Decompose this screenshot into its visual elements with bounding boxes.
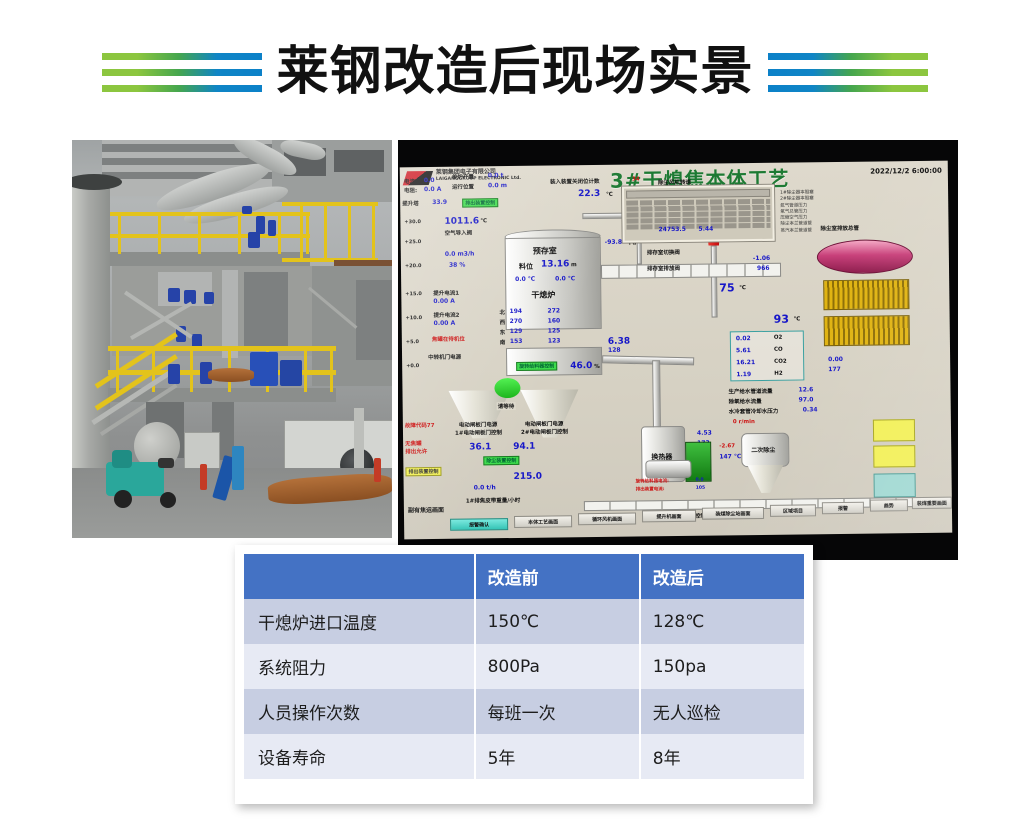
tricycle-seat [158, 458, 174, 468]
wall-panel [244, 272, 288, 348]
process-pipe [602, 355, 694, 365]
valve [168, 364, 180, 384]
secondary-dust-label: 二次除尘 [751, 445, 775, 454]
water-line-label: 生产给水管道流量 [728, 387, 772, 396]
left-misc-2-val: 0.0 t [488, 172, 504, 179]
cyclone-downpipe [711, 245, 718, 317]
row-label: 系统阻力 [244, 644, 474, 689]
tricycle-wheel [160, 492, 176, 508]
temp-row-b: 272 [547, 307, 560, 314]
lift-current-2-label: 提升电流2 [434, 311, 460, 319]
hmi-button-alarm[interactable]: 报警 [822, 502, 864, 515]
rail-post [348, 202, 351, 262]
temp-row-side: 南 [500, 338, 506, 346]
discharge-ctrl-button[interactable]: 排出装置控制 [405, 467, 441, 476]
row-after: 8年 [639, 734, 804, 779]
motor-current-value: 0.0 [696, 478, 704, 483]
scale-tick: +30.0 [404, 219, 421, 225]
branch-label-2: 排存室排放阀 [647, 264, 680, 272]
rail-post [158, 212, 161, 254]
reading-93-unit: ℃ [794, 316, 801, 322]
heat-recovery-grid [823, 279, 909, 310]
rule-line [768, 69, 928, 76]
left-misc-4: 运行位置 [452, 182, 474, 190]
poster-page: 莱钢改造后现场实景 [0, 0, 1030, 821]
water-line-value: 0.34 [803, 406, 818, 413]
discharge-flow: 0.0 t/h [474, 484, 496, 491]
chamber-temp-a: 0.0 ℃ [515, 276, 535, 283]
water-line-label: 除氧给水流量 [729, 397, 762, 405]
water-line-value: 12.6 [798, 386, 813, 393]
rail-post [278, 212, 281, 254]
rule-line [768, 85, 928, 92]
row-before: 150℃ [474, 599, 639, 644]
table-header-before: 改造前 [474, 554, 639, 599]
gas-name: CO2 [774, 359, 787, 365]
left-misc-3: 电阻: [404, 186, 417, 194]
motor-shaft [645, 460, 691, 479]
temp-966: 966 [757, 265, 770, 272]
table-row: 干熄炉进口温度 150℃ 128℃ [244, 599, 804, 644]
pressure-neg: -93.8 [605, 239, 622, 246]
air-inlet-valve-label: 空气导入阀 [445, 228, 473, 236]
photo-row: 莱钢集团电子有限公司 LAIGANGGROUP ELECTRONIC Ltd. … [0, 140, 1030, 560]
scale-tick: +15.0 [405, 291, 422, 297]
fire-extinguisher [200, 464, 207, 490]
left-misc-1: 电流: [404, 177, 417, 185]
temp-row-side: 东 [500, 328, 506, 336]
flow-neg106: -1.06 [753, 255, 770, 262]
temp-row-b: 123 [548, 337, 561, 344]
table-row: 人员操作次数 每班一次 无人巡检 [244, 689, 804, 734]
temp-215: 215.0 [513, 472, 542, 482]
company-name: 莱钢集团电子有限公司 LAIGANGGROUP ELECTRONIC Ltd. [436, 168, 521, 182]
rule-line [102, 85, 262, 92]
decorative-rules-right [768, 53, 928, 92]
row-after: 150pa [639, 644, 804, 689]
charge-count-label: 装入装置关闭位计数 [550, 177, 600, 186]
valve [268, 220, 276, 236]
charge-temp-unit: ℃ [606, 192, 613, 198]
gas-total-value: 24753.5 [658, 226, 685, 233]
hmi-button-main-process[interactable]: 本体工艺画面 [514, 515, 572, 528]
rule-line [102, 69, 262, 76]
flow-000: 0.00 [828, 356, 843, 363]
temp-row-a: 153 [510, 338, 523, 345]
hmi-button-dust-station[interactable]: 装煤除尘站画面 [702, 507, 764, 520]
rail-post [300, 202, 303, 262]
temp-128: 128 [608, 347, 621, 354]
hmi-timestamp: 2022/12/2 6:00:00 [870, 167, 942, 176]
flow-638: 6.38 [608, 337, 630, 347]
sec-dust-temp: 147 ℃ [719, 453, 741, 460]
row-before: 每班一次 [474, 689, 639, 734]
orange-pipe [208, 368, 254, 382]
plant-scene [72, 140, 392, 538]
rotary-feeder-icon [494, 378, 520, 398]
row-label: 设备寿命 [244, 734, 474, 779]
air-open-value: 38 % [449, 262, 466, 269]
rail-post [190, 346, 193, 392]
gas-name: CO [774, 347, 783, 353]
blue-drum [250, 352, 278, 386]
row-before: 800Pa [474, 644, 639, 689]
tricycle-wheel [114, 490, 132, 508]
comparison-table-card: 改造前 改造后 干熄炉进口温度 150℃ 128℃ 系统阻力 800Pa 150… [235, 545, 813, 804]
scale-tick: +20.0 [405, 263, 422, 269]
table-header-row: 改造前 改造后 [244, 554, 804, 599]
temp-row-a: 270 [510, 318, 523, 325]
row-before: 5年 [474, 734, 639, 779]
popup-toolbar[interactable] [626, 189, 770, 199]
table-header-after: 改造后 [639, 554, 804, 599]
tricycle-cab [112, 450, 132, 468]
site-photo-right-scada: 莱钢集团电子有限公司 LAIGANGGROUP ELECTRONIC Ltd. … [398, 140, 958, 560]
hmi-button-alarm-ack[interactable]: 报警确认 [450, 518, 508, 531]
table-row: 系统阻力 800Pa 150pa [244, 644, 804, 689]
hmi-button-trend[interactable]: 趋势 [870, 499, 908, 511]
gas-value: 16.21 [736, 359, 755, 366]
alarm-text-3: 无焦罐排出允许 [405, 439, 427, 455]
rail-post [330, 346, 333, 392]
air-temp-unit: ℃ [480, 218, 487, 224]
teal-panel [874, 473, 916, 498]
gas-name: O2 [774, 335, 783, 341]
fire-extinguisher [374, 458, 381, 482]
hopper-left-label2: 1#电动闸板门控制 [455, 428, 502, 437]
hmi-screen: 莱钢集团电子有限公司 LAIGANGGROUP ELECTRONIC Ltd. … [400, 161, 953, 540]
building-block [334, 150, 384, 172]
wall-panel [356, 280, 392, 360]
temp-row-b: 125 [548, 327, 561, 334]
rail-post [324, 202, 327, 262]
toolbar-title: 副有焦运画面 [408, 505, 444, 514]
temp-row-a: 129 [510, 328, 523, 335]
valve [168, 288, 180, 302]
scale-tick: +10.0 [406, 315, 423, 321]
pre-chamber-label: 预存室 [533, 245, 557, 256]
air-temp-value: 1011.6 [444, 216, 479, 226]
motor-current-label: 旋转给料器电流: [636, 478, 669, 484]
row-after: 128℃ [639, 599, 804, 644]
heat-recovery-grid [824, 315, 910, 346]
gas-total-label: 除尘室排放总管 [820, 224, 859, 232]
motor-current-label: 排出装置电流: [636, 486, 665, 492]
gas-value: 5.61 [736, 347, 751, 354]
rpm-value: 0 r/min [733, 419, 755, 425]
left-misc-4-val: 0.0 m [488, 182, 507, 189]
rail-post [304, 346, 307, 392]
valve [204, 292, 214, 304]
gas-value: 0.02 [736, 335, 751, 342]
gas-value: 1.19 [736, 371, 751, 378]
guard-rail [108, 346, 336, 351]
left-misc-1-val: 0.0 [424, 177, 435, 184]
row-after: 无人巡检 [639, 689, 804, 734]
discharge-device-tag[interactable]: 除尘装置控制 [483, 456, 519, 465]
hmi-button-circ-fan[interactable]: 循环风机画面 [578, 513, 636, 526]
temp-row-side: 西 [500, 318, 506, 326]
rail-post [306, 212, 309, 254]
furnace-label: 干熄炉 [531, 289, 555, 300]
discharge-note: 1#排焦皮带重量/小时 [466, 496, 521, 505]
rule-line [768, 53, 928, 60]
yellow-panel [873, 419, 915, 442]
charge-temp-value: 22.3 [578, 189, 600, 199]
air-flow-value: 0.0 m3/h [445, 250, 475, 257]
alarm-popup-window[interactable] [622, 185, 775, 243]
level-unit: m [571, 262, 577, 268]
concrete-column [72, 178, 110, 488]
furnace-tag[interactable]: 旋转给料器控制 [516, 361, 557, 371]
flow-544: 5.44 [698, 226, 713, 233]
rail-post [238, 212, 241, 254]
branch-label-1: 排存室切换阀 [647, 248, 680, 256]
left-misc-5-val: 33.9 [432, 199, 447, 206]
lift-current-1-label: 提升电流1 [433, 289, 459, 297]
valve [248, 232, 260, 248]
table-header-blank [244, 554, 474, 599]
temp-row-b: 160 [548, 317, 561, 324]
motor-current-value: 105 [696, 486, 705, 491]
level-label: 料位 [519, 262, 533, 272]
level-value: 13.16 [541, 259, 570, 269]
decorative-rules-left [102, 53, 262, 92]
temp-row-side: 北 [499, 308, 505, 316]
left-misc-5: 提升塔 [402, 199, 419, 207]
charge-device-tag[interactable]: 排出装置控制 [462, 198, 498, 207]
steam-drum [817, 239, 913, 274]
blue-drum [280, 360, 302, 386]
temp-row-a: 194 [509, 308, 522, 315]
opening-unit: % [594, 364, 600, 370]
reading-93: 93 [774, 313, 789, 326]
hopper-right-label2: 2#电动闸板门控制 [521, 427, 568, 436]
site-photo-left [72, 140, 392, 538]
temp-94: 94.1 [513, 442, 535, 452]
platform-deck [110, 252, 310, 266]
charge-count-value: 34 [632, 176, 640, 182]
flow-453: 4.53 [697, 430, 712, 437]
comparison-table: 改造前 改造后 干熄炉进口温度 150℃ 128℃ 系统阻力 800Pa 150… [244, 554, 804, 779]
rail-post [118, 212, 121, 254]
alarm-text-left: 焦罐在待机位 [432, 335, 465, 343]
lift-current-2-value: 0.00 A [434, 320, 456, 327]
yellow-panel [873, 445, 915, 468]
water-line-label: 水冷套管冷却水压力 [729, 407, 779, 416]
rail-post [372, 202, 375, 262]
lift-current-1-value: 0.00 A [433, 298, 455, 305]
lift-ctrl-label: 中转机门电源 [428, 353, 461, 361]
sec-dust-press: -2.67 [719, 443, 735, 449]
table-row: 设备寿命 5年 8年 [244, 734, 804, 779]
temp-177: 177 [828, 366, 841, 373]
guard-rail [282, 202, 378, 206]
left-misc-2: 单炉产量 [452, 172, 474, 180]
row-label: 干熄炉进口温度 [244, 599, 474, 644]
page-title: 莱钢改造后现场实景 [262, 46, 767, 98]
hmi-button-area-project[interactable]: 区域项目 [770, 504, 816, 517]
water-line-value: 97.0 [799, 396, 814, 403]
blue-cylinder [232, 446, 244, 490]
hmi-button-hoist[interactable]: 提升机画面 [642, 510, 696, 523]
scale-tick: +25.0 [405, 239, 422, 245]
reading-75-unit: ℃ [739, 285, 746, 291]
alarm-text-2: 故障代码77 [405, 421, 435, 429]
popup-side-list: 1#除尘器本阻塞 2#除尘器本阻塞 氮气管道压力 氧气总管压力 压缩空气压力 除… [780, 190, 814, 234]
rule-line [102, 53, 262, 60]
chamber-temp-b: 0.0 ℃ [555, 275, 575, 282]
opening-value: 46.0 [570, 361, 592, 371]
left-misc-3-val: 0.0 A [424, 186, 441, 193]
wall-panel [222, 270, 238, 358]
duct-band [601, 263, 781, 279]
scale-tick: +5.0 [406, 339, 419, 345]
secondary-dust-hopper [747, 465, 783, 493]
temp-36: 36.1 [469, 442, 491, 452]
gas-name: H2 [774, 371, 783, 377]
rail-post [198, 212, 201, 254]
status-normal-tag: 请等待 [497, 402, 516, 410]
reading-75: 75 [719, 281, 734, 294]
row-label: 人员操作次数 [244, 689, 474, 734]
valve [242, 206, 252, 214]
scale-tick: +0.0 [406, 363, 419, 369]
hmi-button-coal-main[interactable]: 装煤重要画面 [912, 497, 952, 509]
title-band: 莱钢改造后现场实景 [0, 28, 1030, 116]
